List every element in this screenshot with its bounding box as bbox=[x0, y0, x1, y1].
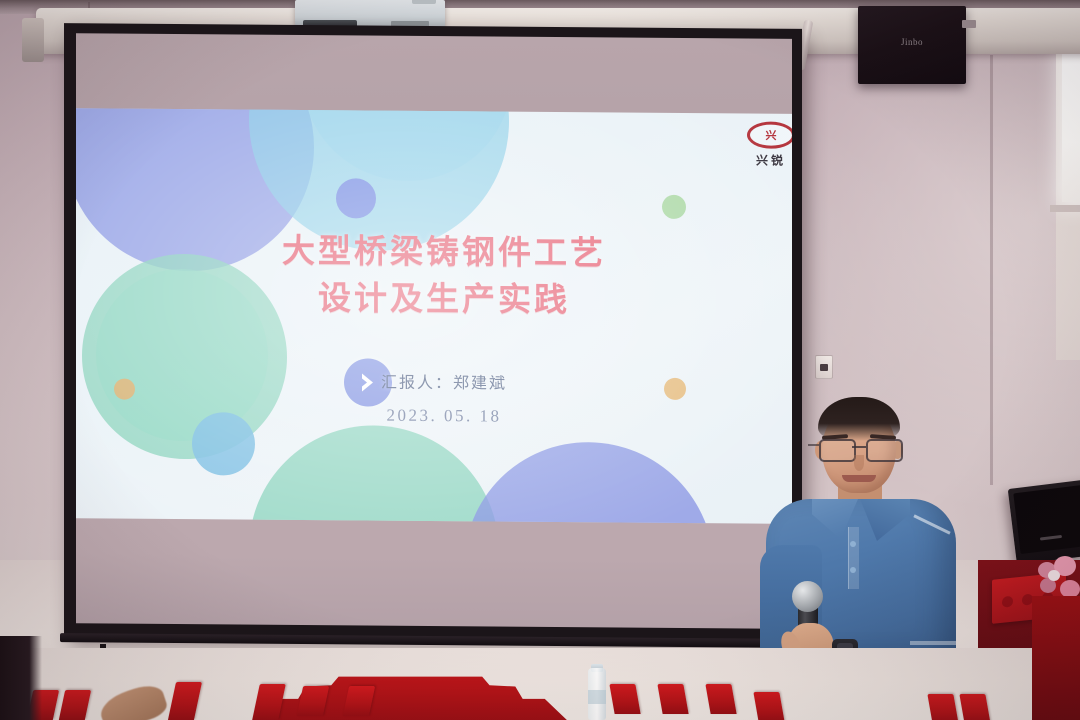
podium-monitor[interactable] bbox=[1008, 477, 1080, 564]
presenter-mouth bbox=[842, 475, 876, 482]
speaker-brand-label: Jinbo bbox=[858, 37, 966, 47]
decor-circle-mint-bottom bbox=[249, 425, 499, 524]
seat-back bbox=[959, 694, 990, 720]
projection-screen[interactable]: 兴 兴锐 大型桥梁铸钢件工艺 设计及生产实践 汇报人：郑建斌 2023. 05.… bbox=[64, 23, 802, 643]
roller-end-cap-left bbox=[22, 18, 44, 62]
presenter-shirt-button-top bbox=[850, 541, 856, 547]
company-logo: 兴 兴锐 bbox=[739, 121, 792, 172]
window-glass bbox=[1062, 52, 1080, 202]
foreground-red-panel bbox=[1032, 596, 1080, 720]
seat-back bbox=[609, 684, 640, 714]
seat-back bbox=[657, 684, 688, 714]
wall-socket[interactable] bbox=[815, 355, 833, 379]
microphone-head-icon[interactable] bbox=[792, 581, 823, 612]
seat-back bbox=[753, 692, 784, 720]
speaker-bracket bbox=[962, 20, 976, 28]
presentation-slide[interactable]: 兴 兴锐 大型桥梁铸钢件工艺 设计及生产实践 汇报人：郑建斌 2023. 05.… bbox=[76, 108, 792, 524]
monitor-screen bbox=[1013, 483, 1080, 554]
logo-oval-mark: 兴 bbox=[747, 121, 792, 148]
water-bottle-label bbox=[588, 690, 606, 704]
presenter-shirt-button-bottom bbox=[850, 567, 856, 573]
presenter-shirt-placket bbox=[848, 527, 859, 589]
presenter-nose bbox=[854, 455, 864, 471]
wall-pillar-edge bbox=[990, 55, 993, 485]
screenshot-root: Cisa Jinbo bbox=[0, 0, 1080, 720]
logo-company-name: 兴锐 bbox=[739, 151, 792, 169]
seat-back bbox=[927, 694, 958, 720]
logo-inner-glyph: 兴 bbox=[766, 130, 777, 141]
projection-screen-surface: 兴 兴锐 大型桥梁铸钢件工艺 设计及生产实践 汇报人：郑建斌 2023. 05.… bbox=[76, 33, 792, 629]
presenter-sleeve-trim bbox=[910, 641, 956, 645]
eyeglass-temple bbox=[808, 444, 819, 446]
foreground-dark-edge bbox=[0, 636, 42, 720]
flower-bloom-5 bbox=[1048, 570, 1060, 581]
decor-circle-periwinkle-bottom bbox=[464, 441, 714, 524]
wall-speaker: Jinbo bbox=[858, 6, 966, 84]
seat-back bbox=[705, 684, 736, 714]
slide-title-line2: 设计及生产实践 bbox=[76, 273, 792, 326]
window-rail bbox=[1050, 205, 1080, 212]
podium-panel-dot-1 bbox=[1002, 596, 1013, 608]
socket-hole bbox=[820, 364, 828, 371]
eyeglass-lens-right bbox=[866, 439, 903, 462]
decor-circle-green-right bbox=[662, 195, 686, 219]
slide-title-line1: 大型桥梁铸钢件工艺 bbox=[76, 226, 792, 279]
eyeglass-lens-left bbox=[819, 439, 856, 462]
eyeglass-bridge bbox=[852, 446, 866, 448]
projector-mount bbox=[412, 0, 436, 4]
decor-circle-periwinkle-small bbox=[336, 178, 376, 218]
slide-title: 大型桥梁铸钢件工艺 设计及生产实践 bbox=[76, 226, 792, 326]
